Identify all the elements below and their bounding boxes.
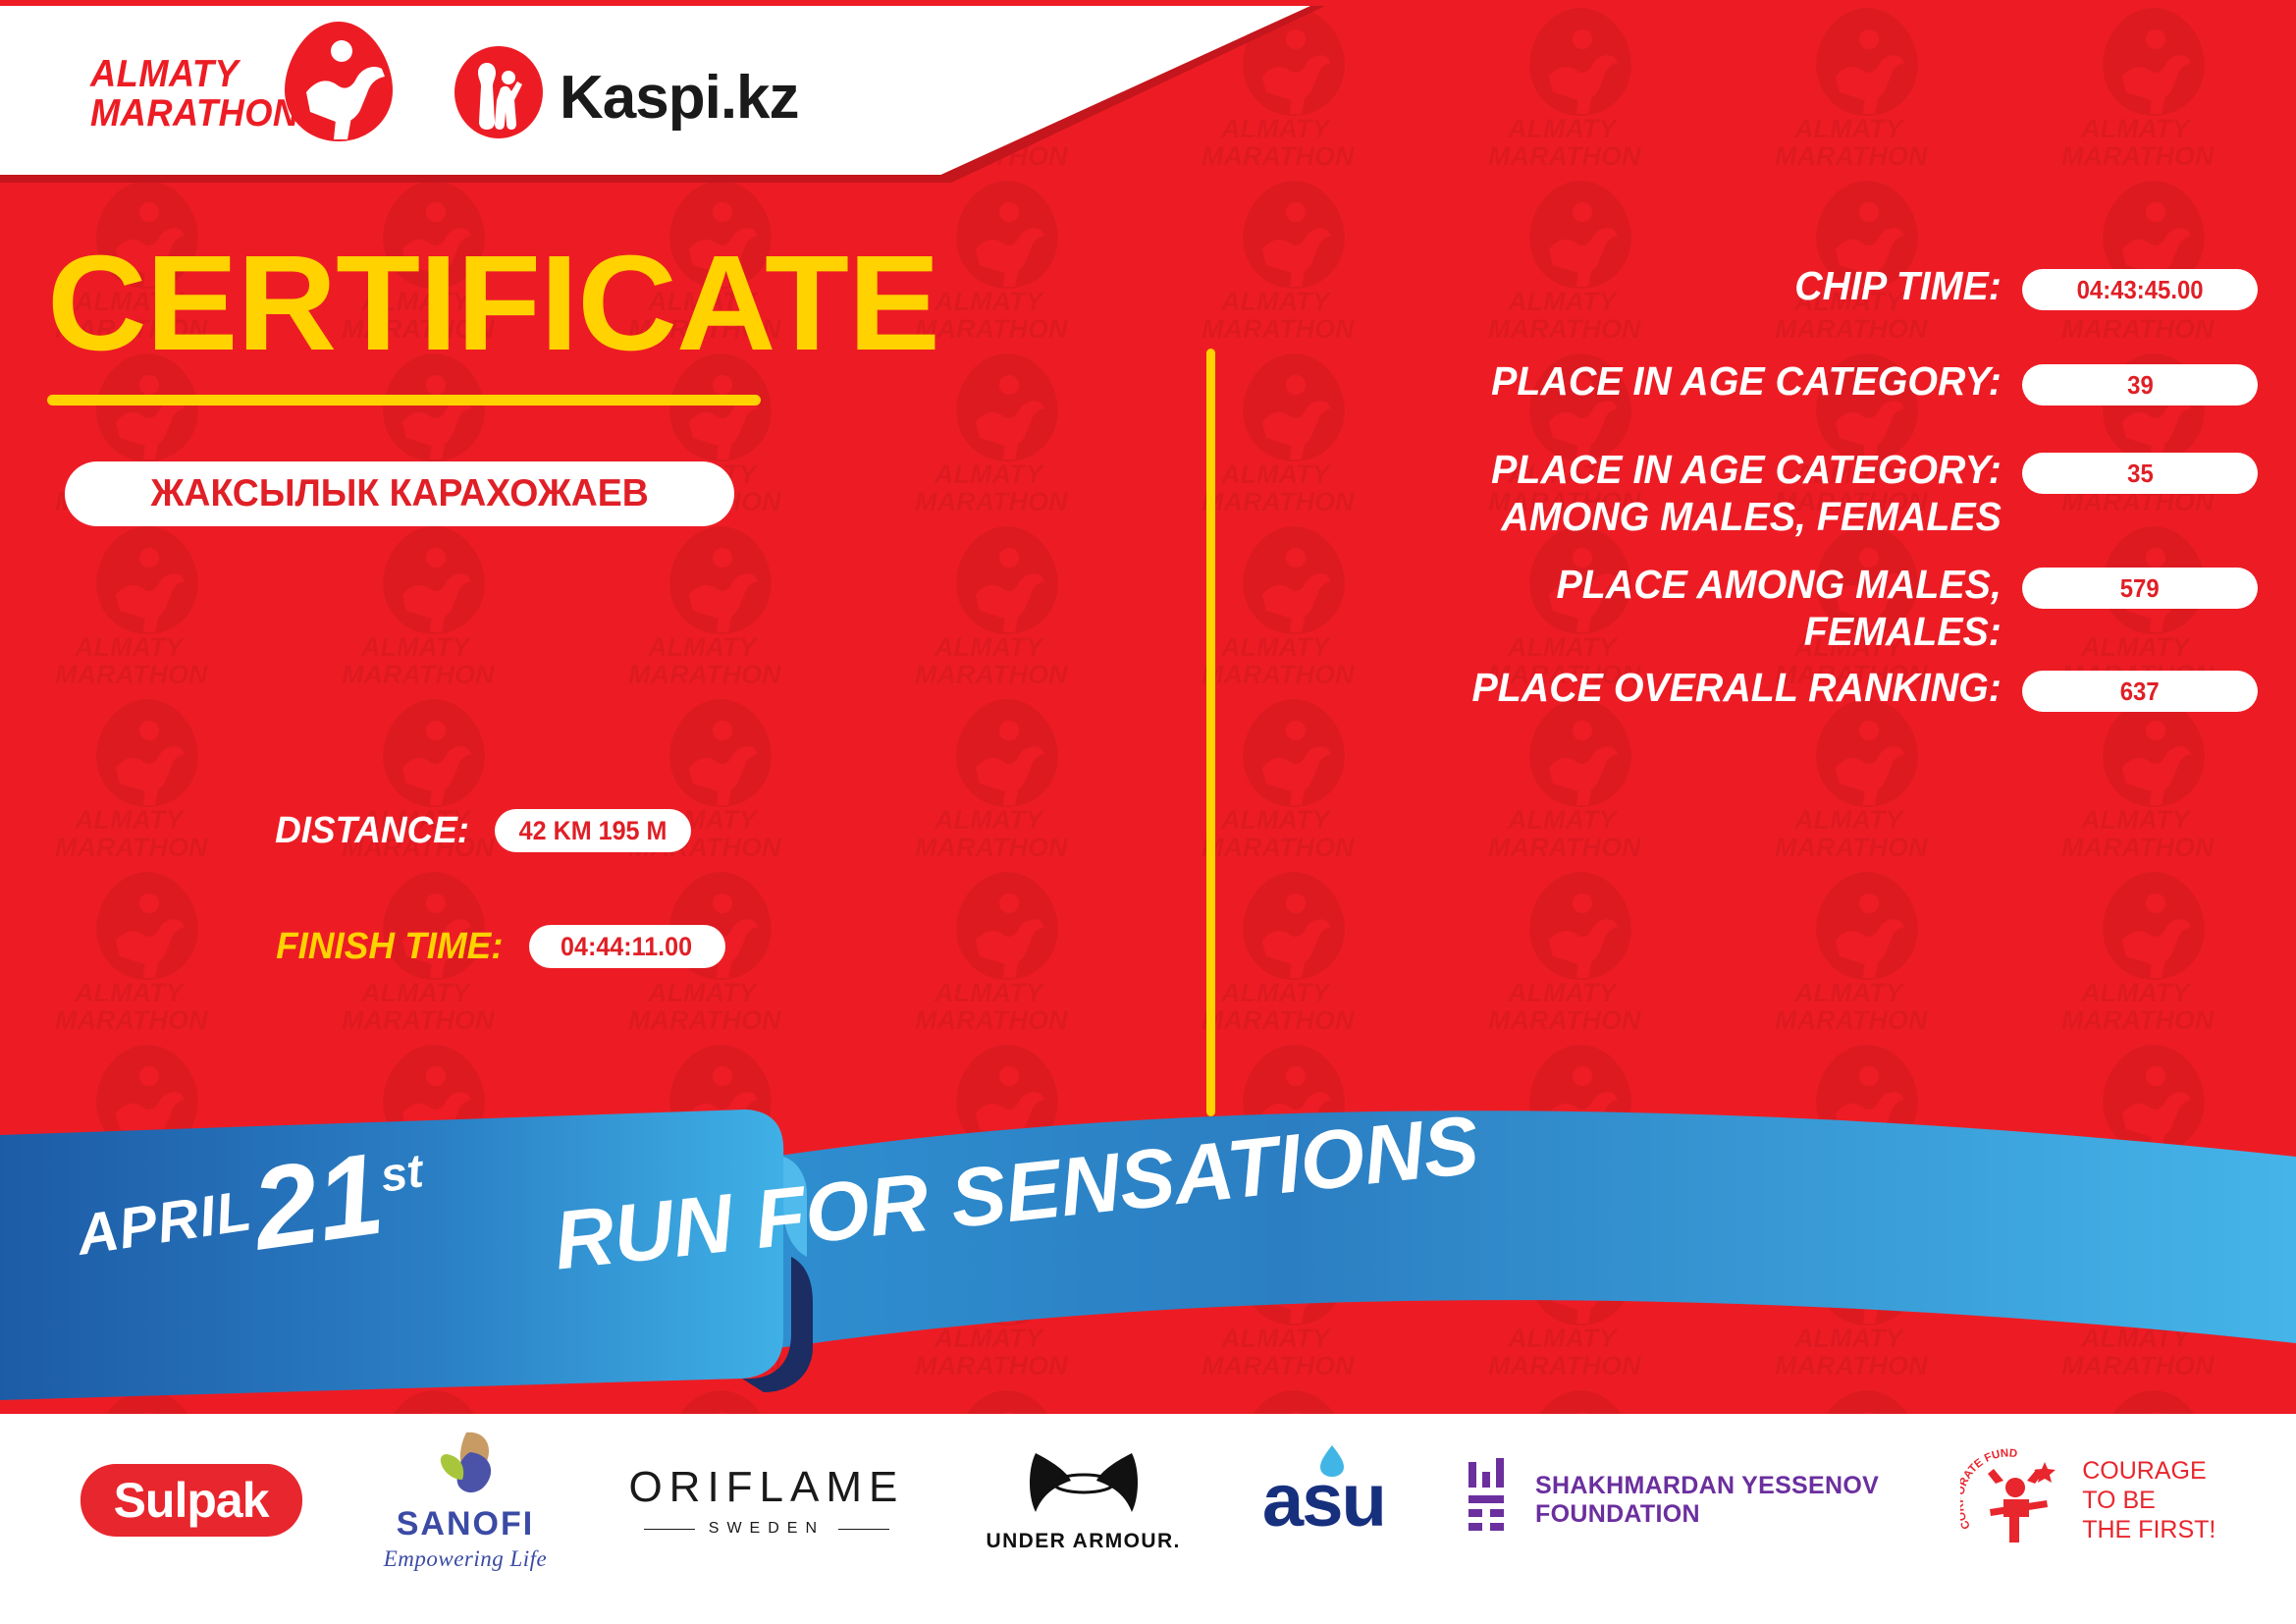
place-among-gender-value: 579 (2120, 573, 2160, 604)
chip-time-row: CHIP TIME: 04:43:45.00 (1256, 263, 2258, 310)
place-overall-value: 637 (2120, 677, 2160, 707)
sponsor-sanofi-label: SANOFI (397, 1505, 534, 1543)
place-age-category-row: PLACE IN AGE CATEGORY: 39 (1256, 358, 2258, 406)
place-age-category-value: 39 (2127, 370, 2154, 401)
almaty-marathon-line1: ALMATY (90, 55, 300, 94)
page-title: CERTIFICATE (47, 236, 939, 371)
distance-label: DISTANCE: (275, 810, 469, 852)
place-age-category-value-pill: 39 (2022, 364, 2258, 406)
participant-name-field: ЖАКСЫЛЫК КАРАХОЖАЕВ (65, 461, 734, 526)
almaty-marathon-logo[interactable]: ALMATY MARATHON (90, 37, 414, 145)
place-age-category-gender-value: 35 (2127, 459, 2154, 489)
finish-time-label: FINISH TIME: (276, 926, 503, 968)
title-underline (47, 395, 761, 406)
vertical-divider (1206, 349, 1215, 1116)
sponsor-under-armour-label: UNDER ARMOUR. (987, 1530, 1181, 1553)
sponsor-asu-label: asu (1262, 1459, 1385, 1543)
chip-time-label: CHIP TIME: (1287, 263, 2022, 310)
kaspi-wordmark: Kaspi.kz (560, 63, 799, 133)
chip-time-value: 04:43:45.00 (2076, 275, 2203, 305)
sponsor-sanofi[interactable]: SANOFI Empowering Life (384, 1429, 548, 1572)
sponsor-oriflame-tagline: SWEDEN (709, 1520, 825, 1538)
place-among-gender-label: PLACE AMONG MALES,FEMALES: (1287, 562, 2022, 655)
sanofi-emblem-icon (427, 1429, 504, 1501)
certificate-canvas: ALMATY MARATHON ALMATY MARATHON (0, 0, 2296, 1624)
place-age-category-label: PLACE IN AGE CATEGORY: (1287, 358, 2022, 406)
place-overall-row: PLACE OVERALL RANKING: 637 (1256, 665, 2258, 712)
oriflame-rule-left (644, 1529, 695, 1530)
sponsor-yessenov-line2: FOUNDATION (1535, 1500, 1879, 1530)
yessenov-bars-icon (1467, 1458, 1518, 1543)
courage-fund-wordmark: COURAGE TO BE THE FIRST! (2082, 1456, 2216, 1544)
kaspi-people-icon (452, 45, 546, 139)
courage-fund-line3: THE FIRST! (2082, 1515, 2216, 1544)
place-overall-label: PLACE OVERALL RANKING: (1287, 665, 2022, 712)
sponsor-asu[interactable]: asu (1262, 1458, 1385, 1543)
place-among-gender-row: PLACE AMONG MALES,FEMALES: 579 (1256, 562, 2258, 655)
almaty-marathon-line2: MARATHON (90, 94, 300, 134)
place-age-category-gender-label: PLACE IN AGE CATEGORY:AMONG MALES, FEMAL… (1287, 447, 2022, 540)
sponsor-under-armour[interactable]: UNDER ARMOUR. (987, 1447, 1181, 1553)
header-content: ALMATY MARATHON Kaspi.kz (0, 0, 1320, 169)
sponsor-bar: Sulpak SANOFI Empowering Life ORIFLAME S… (0, 1414, 2296, 1624)
finish-time-value: 04:44:11.00 (561, 932, 693, 962)
place-age-category-gender-value-pill: 35 (2022, 453, 2258, 494)
distance-row: DISTANCE: 42 KM 195 M (269, 809, 691, 852)
ribbon-day: 21 (244, 1127, 391, 1277)
courage-fund-icon: CORPORATE FUND (1960, 1448, 2070, 1552)
courage-fund-line1: COURAGE (2082, 1456, 2216, 1486)
sponsor-sulpak-label: Sulpak (114, 1472, 269, 1529)
sponsor-oriflame[interactable]: ORIFLAME SWEDEN (628, 1463, 904, 1538)
distance-value: 42 KM 195 M (519, 816, 667, 846)
sponsor-yessenov-wordmark: SHAKHMARDAN YESSENOV FOUNDATION (1535, 1472, 1879, 1530)
sponsor-sanofi-tagline: Empowering Life (384, 1546, 548, 1572)
sponsor-yessenov[interactable]: SHAKHMARDAN YESSENOV FOUNDATION (1467, 1458, 1879, 1543)
runner-drop-icon (283, 20, 395, 143)
under-armour-icon (1026, 1447, 1142, 1524)
sponsor-courage-fund[interactable]: CORPORATE FUND COURAGE TO BE THE FIRST! (1960, 1448, 2216, 1552)
oriflame-rule-right (838, 1529, 889, 1530)
distance-value-pill: 42 KM 195 M (495, 809, 691, 852)
participant-name: ЖАКСЫЛЫК КАРАХОЖАЕВ (150, 472, 648, 515)
sponsor-oriflame-label: ORIFLAME (628, 1463, 904, 1512)
place-among-gender-value-pill: 579 (2022, 568, 2258, 609)
finish-time-row: FINISH TIME: 04:44:11.00 (269, 925, 725, 968)
place-overall-value-pill: 637 (2022, 671, 2258, 712)
chip-time-value-pill: 04:43:45.00 (2022, 269, 2258, 310)
finish-time-value-pill: 04:44:11.00 (529, 925, 725, 968)
sponsor-oriflame-subline: SWEDEN (628, 1520, 904, 1538)
sponsor-yessenov-line1: SHAKHMARDAN YESSENOV (1535, 1472, 1879, 1501)
ribbon-ordinal: st (377, 1144, 426, 1203)
place-age-category-gender-row: PLACE IN AGE CATEGORY:AMONG MALES, FEMAL… (1256, 447, 2258, 540)
event-ribbon: APRIL 21 st RUN FOR SENSATIONS (0, 1100, 2296, 1424)
courage-fund-line2: TO BE (2082, 1486, 2216, 1515)
sponsor-sulpak[interactable]: Sulpak (80, 1464, 302, 1537)
